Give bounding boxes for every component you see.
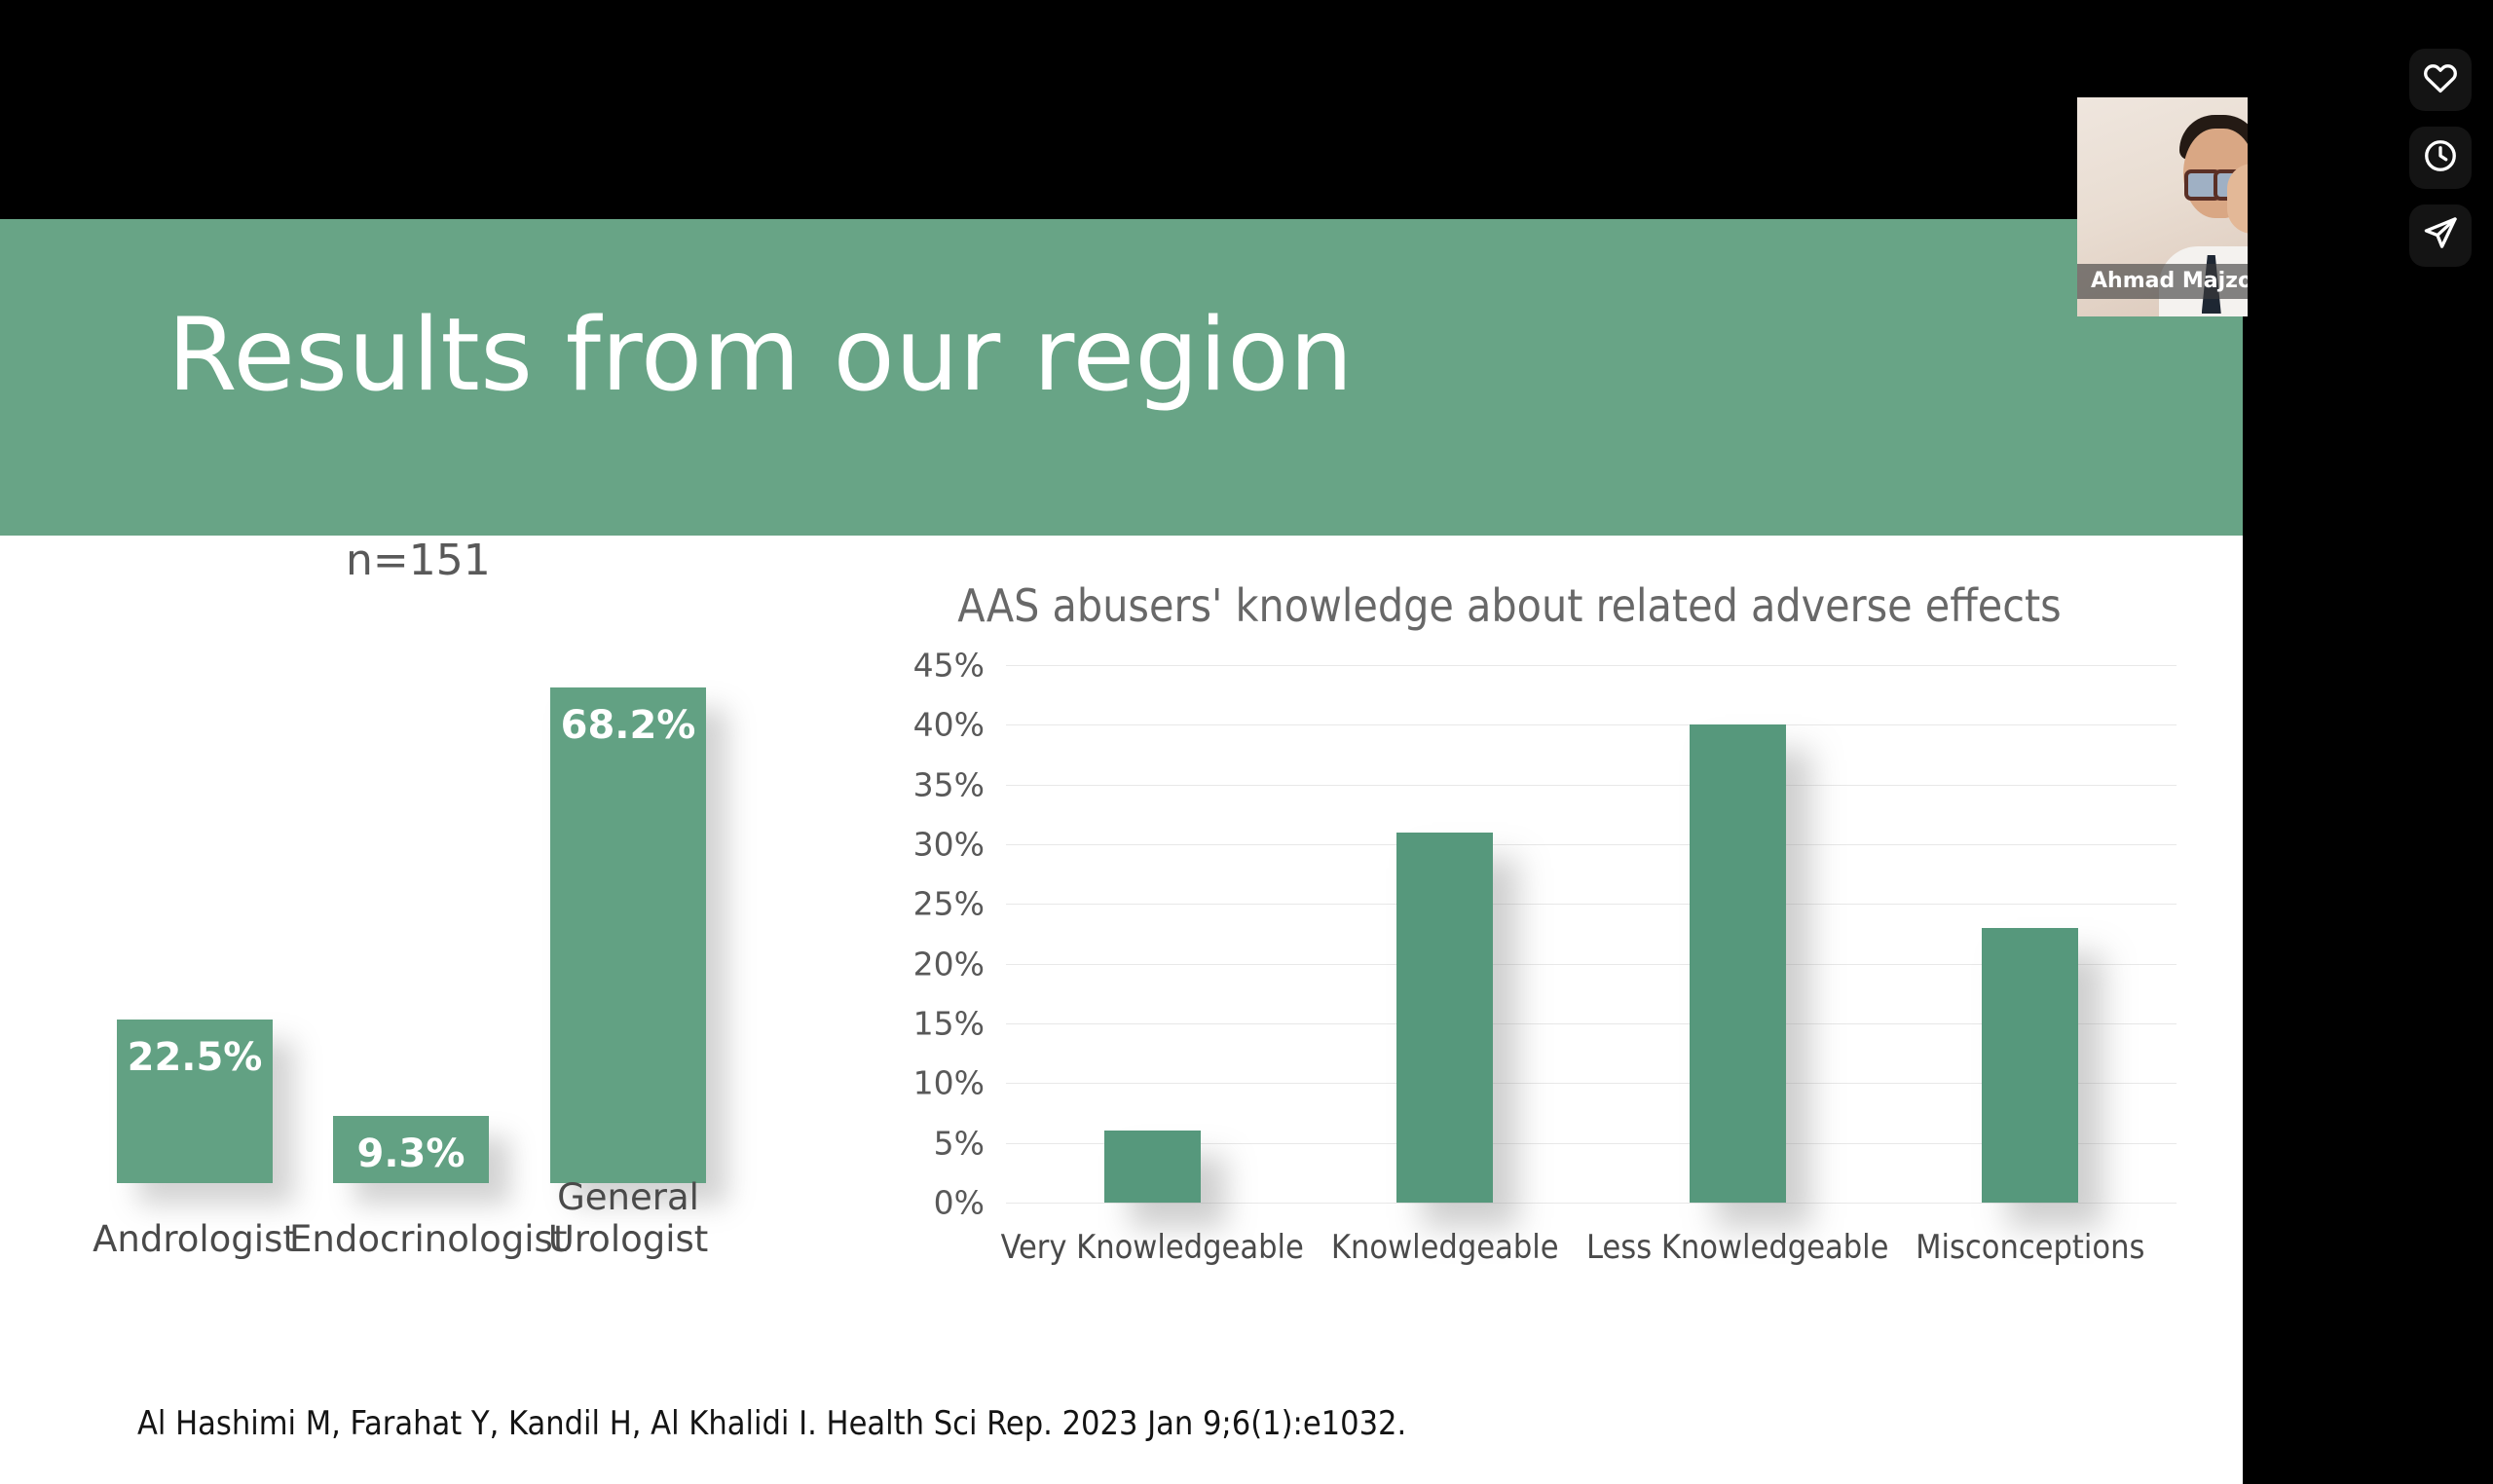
bar-value-label: 9.3% bbox=[333, 1132, 489, 1176]
y-axis-tick-label: 5% bbox=[934, 1124, 985, 1162]
like-button[interactable] bbox=[2409, 49, 2472, 111]
gridline bbox=[1006, 665, 2177, 666]
y-axis-tick-label: 10% bbox=[913, 1064, 985, 1102]
gridline bbox=[1006, 785, 2177, 786]
chart-title: AAS abusers' knowledge about related adv… bbox=[842, 579, 2177, 632]
bar-value-label: 68.2% bbox=[550, 703, 706, 748]
bar-column: 68.2% bbox=[550, 687, 706, 1183]
bar bbox=[1982, 928, 2078, 1203]
x-axis-label: Misconceptions bbox=[1916, 1228, 2144, 1267]
bar-column: 22.5% bbox=[117, 1020, 273, 1183]
bar bbox=[1690, 724, 1786, 1203]
x-axis-label: Less Knowledgeable bbox=[1586, 1228, 1889, 1267]
x-axis-label: General Urologist bbox=[506, 1176, 750, 1261]
y-axis-tick-label: 0% bbox=[934, 1184, 985, 1222]
bar-column: 9.3% bbox=[333, 1116, 489, 1183]
x-axis-label: Very Knowledgeable bbox=[1001, 1228, 1304, 1267]
x-axis-label: Endocrinologist bbox=[289, 1218, 533, 1261]
y-axis-tick-label: 45% bbox=[913, 647, 985, 685]
sample-size-annotation: n=151 bbox=[346, 536, 491, 585]
slide-header-banner: Results from our region bbox=[0, 219, 2243, 536]
bar: 9.3% bbox=[333, 1116, 489, 1183]
y-axis-tick-label: 30% bbox=[913, 826, 985, 864]
y-axis-tick-label: 40% bbox=[913, 706, 985, 744]
page-title: Results from our region bbox=[167, 297, 1354, 414]
watch-later-button[interactable] bbox=[2409, 127, 2472, 189]
y-axis-tick-label: 35% bbox=[913, 765, 985, 803]
gridline bbox=[1006, 904, 2177, 905]
y-axis-tick-label: 25% bbox=[913, 885, 985, 923]
gridline bbox=[1006, 1203, 2177, 1204]
gridline bbox=[1006, 724, 2177, 725]
heart-icon bbox=[2422, 59, 2459, 101]
x-axis-label: Knowledgeable bbox=[1331, 1228, 1559, 1267]
participant-name-label: Ahmad Majzoub bbox=[2077, 264, 2248, 299]
clock-icon bbox=[2422, 137, 2459, 179]
send-icon bbox=[2422, 215, 2459, 257]
bar: 22.5% bbox=[117, 1020, 273, 1183]
x-axis-label: Andrologist bbox=[73, 1218, 316, 1261]
left-bar-chart: n=151 22.5%Andrologist9.3%Endocrinologis… bbox=[107, 589, 789, 1310]
bar bbox=[1104, 1131, 1201, 1203]
citation-text: Al Hashimi M, Farahat Y, Kandil H, Al Kh… bbox=[137, 1404, 1406, 1443]
bar-value-label: 22.5% bbox=[117, 1035, 273, 1080]
video-player-stage: Results from our region n=151 22.5%Andro… bbox=[0, 0, 2493, 1484]
y-axis-tick-label: 20% bbox=[913, 945, 985, 983]
bar bbox=[1396, 833, 1493, 1203]
participant-video-thumbnail[interactable]: Ahmad Majzoub bbox=[2077, 97, 2248, 316]
share-button[interactable] bbox=[2409, 204, 2472, 267]
presentation-slide: Results from our region n=151 22.5%Andro… bbox=[0, 219, 2243, 1484]
y-axis-tick-label: 15% bbox=[913, 1005, 985, 1043]
chart-plot-area: 0%5%10%15%20%25%30%35%40%45%Very Knowled… bbox=[1006, 665, 2177, 1203]
bar: 68.2% bbox=[550, 687, 706, 1183]
right-bar-chart: AAS abusers' knowledge about related adv… bbox=[842, 579, 2177, 1319]
gridline bbox=[1006, 844, 2177, 845]
